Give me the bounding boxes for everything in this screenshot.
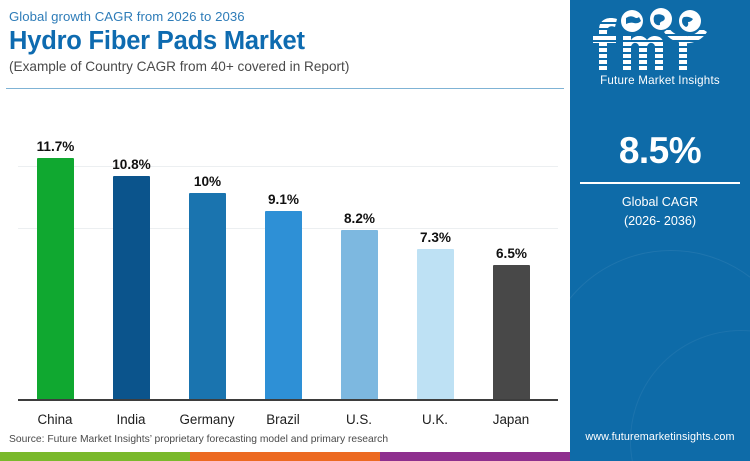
chart-panel: Global growth CAGR from 2026 to 2036 Hyd… — [0, 0, 570, 461]
header: Global growth CAGR from 2026 to 2036 Hyd… — [9, 8, 561, 76]
infographic-root: Global growth CAGR from 2026 to 2036 Hyd… — [0, 0, 750, 461]
bar-rect[interactable] — [493, 265, 530, 399]
chart-x-axis — [18, 399, 558, 401]
category-label: India — [88, 412, 174, 427]
bar-india[interactable]: 10.8% — [113, 176, 150, 399]
stripe-segment-green — [0, 452, 190, 461]
bar-rect[interactable] — [189, 193, 226, 399]
header-divider — [6, 88, 564, 89]
fmi-logo-icon — [585, 6, 735, 72]
stripe-segment-orange — [190, 452, 380, 461]
category-label: U.S. — [316, 412, 402, 427]
category-label: U.K. — [392, 412, 478, 427]
bar-japan[interactable]: 6.5% — [493, 265, 530, 399]
bar-rect[interactable] — [265, 211, 302, 399]
bar-value-label: 10.8% — [91, 157, 172, 172]
bar-value-label: 7.3% — [395, 230, 476, 245]
bar-value-label: 6.5% — [471, 246, 552, 261]
bar-chart: 11.7%10.8%10%9.1%8.2%7.3%6.5% — [0, 95, 570, 405]
header-subtitle: (Example of Country CAGR from 40+ covere… — [9, 58, 561, 76]
bar-brazil[interactable]: 9.1% — [265, 211, 302, 399]
bar-value-label: 11.7% — [15, 139, 96, 154]
bar-value-label: 9.1% — [243, 192, 324, 207]
header-kicker: Global growth CAGR from 2026 to 2036 — [9, 8, 561, 25]
bar-rect[interactable] — [37, 158, 74, 399]
branding-panel: Future Market Insights 8.5% Global CAGR … — [570, 0, 750, 461]
category-label: Germany — [164, 412, 250, 427]
bar-rect[interactable] — [417, 249, 454, 399]
category-label: Brazil — [240, 412, 326, 427]
fmi-logo[interactable]: Future Market Insights — [570, 6, 750, 92]
bar-china[interactable]: 11.7% — [37, 158, 74, 399]
stat-value: 8.5% — [570, 128, 750, 174]
bar-rect[interactable] — [113, 176, 150, 399]
bar-germany[interactable]: 10% — [189, 193, 226, 399]
stripe-segment-purple — [380, 452, 570, 461]
bar-value-label: 10% — [167, 174, 248, 189]
category-label: Japan — [468, 412, 554, 427]
bar-us[interactable]: 8.2% — [341, 230, 378, 399]
bar-uk[interactable]: 7.3% — [417, 249, 454, 399]
bar-rect[interactable] — [341, 230, 378, 399]
stat-divider — [580, 182, 740, 184]
stat-caption-line1: Global CAGR — [570, 193, 750, 212]
bar-value-label: 8.2% — [319, 211, 400, 226]
source-note: Source: Future Market Insights’ propriet… — [9, 434, 388, 445]
category-label: China — [12, 412, 98, 427]
global-cagr-stat: 8.5% Global CAGR (2026- 2036) — [570, 128, 750, 231]
stat-caption-line2: (2026- 2036) — [570, 212, 750, 231]
website-url[interactable]: www.futuremarketinsights.com — [570, 431, 750, 443]
page-title: Hydro Fiber Pads Market — [9, 26, 561, 57]
logo-tagline: Future Market Insights — [570, 74, 750, 87]
